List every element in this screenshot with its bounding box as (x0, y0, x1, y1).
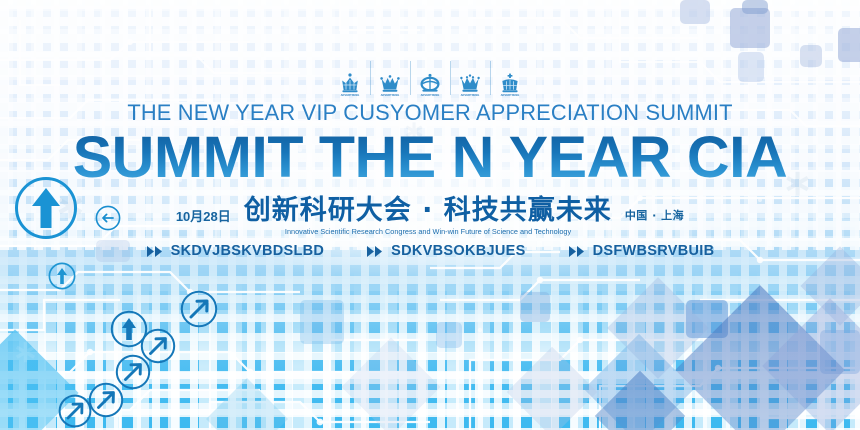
arrow-upright-3-icon (115, 354, 151, 390)
decor-diamond-10 (206, 378, 288, 430)
eyebrow-text: THE NEW YEAR VIP CUSYOMER APPRECIATION S… (13, 102, 847, 125)
decor-square-3 (680, 0, 710, 24)
crown-badge-row: ADVERTISING ADVERTISING ADVERTISING (0, 55, 860, 99)
main-title: SUMMIT THE N YEAR CIA (0, 129, 860, 187)
decor-diamond-6 (507, 347, 598, 430)
crown-icon (379, 73, 401, 93)
decor-square-8 (520, 292, 550, 322)
arrow-upright-4-icon (88, 382, 124, 418)
arrow-upright-2-icon (140, 328, 176, 364)
decor-square-10 (300, 300, 344, 344)
crown-icon (339, 73, 361, 93)
arrow-upright-5-icon (58, 394, 92, 428)
crown-caption-3: ADVERTISING (421, 94, 440, 98)
crown-icon (419, 73, 441, 93)
crown-badge-3: ADVERTISING (410, 55, 450, 99)
topic-bullet-3[interactable]: DSFWBSRVBUIB (568, 243, 715, 259)
crown-icon (459, 73, 481, 93)
event-location: 中国 · 上海 (625, 197, 684, 223)
crown-caption-1: ADVERTISING (341, 94, 360, 98)
decor-diamond-5 (595, 371, 686, 430)
topic-bullet-3-label: DSFWBSRVBUIB (593, 243, 715, 259)
decor-diamond-4 (607, 277, 709, 379)
pixel-grid-bottom-coarse (0, 270, 860, 430)
double-chevron-icon (366, 245, 384, 258)
decor-diamond-8 (0, 329, 79, 430)
decor-square-12 (820, 330, 860, 374)
crown-caption-2: ADVERTISING (381, 94, 400, 98)
topic-bullet-1[interactable]: SKDVJBSKVBDSLBD (146, 243, 325, 259)
double-chevron-icon (568, 245, 586, 258)
summit-banner: ⚹ ⚹ ⚹ ⚹ ADVERTISING ADVERTISING (0, 0, 860, 430)
decor-square-11 (436, 322, 462, 348)
watermark-bottom-left: ⚹ (5, 328, 43, 373)
arrow-up-small-icon (48, 262, 76, 290)
decor-diamond-7 (342, 338, 441, 430)
chinese-headline: 创新科研大会 · 科技共赢未来 (244, 197, 612, 225)
topic-bullet-2-label: SDKVBSOKBJUES (391, 243, 525, 259)
english-subtitle: Innovative Scientific Research Congress … (246, 228, 610, 237)
crown-badge-4: ADVERTISING (450, 55, 490, 99)
crown-caption-5: ADVERTISING (501, 94, 520, 98)
arrow-upright-1-icon (180, 290, 218, 328)
decor-diamond-3 (584, 334, 694, 430)
crown-badge-1: ADVERTISING (330, 55, 370, 99)
topic-bullet-1-label: SKDVJBSKVBDSLBD (171, 243, 325, 259)
arrow-up-mid-icon (110, 310, 148, 348)
decor-square-1 (730, 8, 770, 48)
topic-bullet-2[interactable]: SDKVBSOKBJUES (366, 243, 525, 259)
decor-diamond-1 (675, 285, 845, 430)
crown-caption-4: ADVERTISING (461, 94, 480, 98)
chinese-headline-wrap: 创新科研大会 · 科技共赢未来 Innovative Scientific Re… (244, 197, 612, 237)
double-chevron-icon (146, 245, 164, 258)
crown-badge-2: ADVERTISING (370, 55, 410, 99)
decor-diamond-2 (762, 298, 860, 430)
event-date: 10月28日 (176, 197, 231, 225)
decor-square-6 (742, 0, 768, 14)
crown-badge-5: ADVERTISING (490, 55, 530, 99)
decor-square-9 (686, 300, 728, 338)
crown-icon (499, 73, 521, 93)
topic-bullet-row: SKDVJBSKVBDSLBD SDKVBSOKBJUES DSFWBSRVBU… (0, 243, 860, 259)
event-info-row: 10月28日 创新科研大会 · 科技共赢未来 Innovative Scient… (0, 197, 860, 237)
